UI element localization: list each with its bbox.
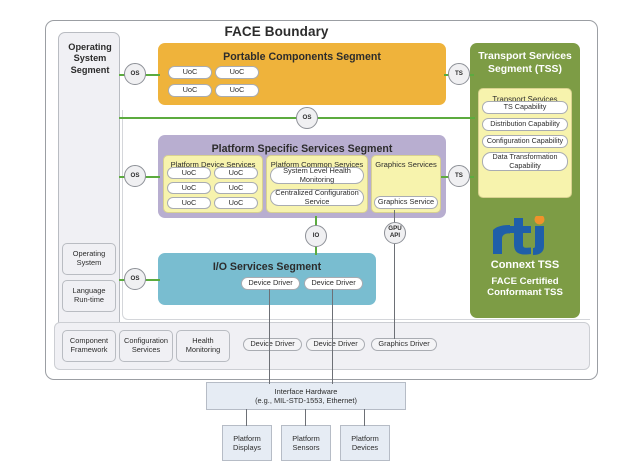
- operating-system-box-line-2: System: [73, 259, 105, 268]
- connector-os-4-right: [144, 279, 160, 281]
- interface-io[interactable]: IO: [305, 225, 327, 247]
- interface-hardware-line-2: (e.g., MIL-STD-1553, Ethernet): [255, 396, 357, 405]
- graphics-service-pill[interactable]: Graphics Service: [374, 196, 438, 209]
- face-certified-line-1: FACE Certified: [470, 276, 580, 287]
- language-runtime-line-2: Run-time: [73, 296, 106, 305]
- rti-logo-svg: [487, 216, 563, 256]
- os-label-line-3: Segment: [59, 65, 121, 76]
- uoc-pill[interactable]: UoC: [167, 182, 211, 194]
- connector-os-bus-right: [317, 117, 475, 119]
- platform-sensors-box[interactable]: Platform Sensors: [281, 425, 331, 461]
- language-runtime-box[interactable]: Language Run-time: [62, 280, 116, 312]
- platform-devices-line-1: Platform: [351, 434, 379, 443]
- io-services-segment-title: I/O Services Segment: [158, 261, 376, 273]
- connector-io-down: [315, 246, 317, 255]
- data-transformation-capability-pill[interactable]: Data Transformation Capability: [482, 152, 568, 171]
- health-monitoring-line-2: Monitoring: [186, 346, 221, 355]
- uoc-pill[interactable]: UoC: [215, 84, 259, 97]
- interface-hardware-line-1: Interface Hardware: [255, 387, 357, 396]
- interface-os-2[interactable]: OS: [296, 107, 318, 129]
- uoc-pill[interactable]: UoC: [214, 182, 258, 194]
- io-device-driver-2[interactable]: Device Driver: [304, 277, 363, 290]
- interface-gpu-api[interactable]: GPU API: [384, 222, 406, 244]
- slhm-line-2: Monitoring: [283, 176, 351, 184]
- portable-components-segment-title: Portable Components Segment: [158, 51, 446, 63]
- interface-os-3[interactable]: OS: [124, 165, 146, 187]
- band-device-driver-2[interactable]: Device Driver: [306, 338, 365, 351]
- configuration-services-box[interactable]: Configuration Services: [119, 330, 173, 362]
- uoc-pill[interactable]: UoC: [167, 197, 211, 209]
- connector-dd-1: [269, 289, 270, 384]
- uoc-pill[interactable]: UoC: [214, 197, 258, 209]
- interface-ts-2[interactable]: TS: [448, 165, 470, 187]
- os-label-line-1: Operating: [59, 42, 121, 53]
- platform-sensors-line-2: Sensors: [292, 443, 320, 452]
- connector-gpu-down: [394, 244, 395, 339]
- band-graphics-driver[interactable]: Graphics Driver: [371, 338, 437, 351]
- tss-title-line-2: Segment (TSS): [470, 64, 580, 77]
- uoc-pill[interactable]: UoC: [168, 66, 212, 79]
- interface-ts-1[interactable]: TS: [448, 63, 470, 85]
- interface-os-1[interactable]: OS: [124, 63, 146, 85]
- face-certified-label: FACE Certified Conformant TSS: [470, 276, 580, 299]
- tss-title-line-1: Transport Services: [470, 51, 580, 64]
- configuration-capability-label: Configuration Capability: [487, 137, 563, 145]
- uoc-pill[interactable]: UoC: [215, 66, 259, 79]
- operating-system-segment[interactable]: Operating System Segment: [58, 32, 120, 364]
- uoc-pill[interactable]: UoC: [214, 167, 258, 179]
- connector-hw-devices: [364, 409, 365, 426]
- ts-capability-label: TS Capability: [504, 103, 547, 111]
- configuration-capability-pill[interactable]: Configuration Capability: [482, 135, 568, 148]
- platform-displays-line-1: Platform: [233, 434, 261, 443]
- os-label-line-2: System: [59, 53, 121, 64]
- band-device-driver-1[interactable]: Device Driver: [243, 338, 302, 351]
- connector-os-1-right: [144, 74, 160, 76]
- connector-hw-sensors: [305, 409, 306, 426]
- centralized-configuration-service-pill[interactable]: Centralized Configuration Service: [270, 189, 364, 206]
- operating-system-box[interactable]: Operating System: [62, 243, 116, 275]
- connector-hw-displays: [246, 409, 247, 426]
- configuration-services-line-2: Services: [124, 346, 168, 355]
- dtc-line-2: Capability: [492, 162, 557, 170]
- platform-sensors-line-1: Platform: [292, 434, 320, 443]
- interface-hardware-box[interactable]: Interface Hardware (e.g., MIL-STD-1553, …: [206, 382, 406, 410]
- ccs-line-2: Service: [275, 198, 358, 206]
- connector-os-3-right: [144, 176, 160, 178]
- transport-services-segment-title: Transport Services Segment (TSS): [470, 51, 580, 76]
- interface-os-4[interactable]: OS: [124, 268, 146, 290]
- gpu-api-line-2: API: [388, 233, 401, 240]
- platform-devices-line-2: Devices: [351, 443, 379, 452]
- rti-logo: [487, 216, 563, 256]
- platform-devices-box[interactable]: Platform Devices: [340, 425, 390, 461]
- operating-system-segment-label: Operating System Segment: [59, 42, 121, 76]
- connector-os-bus-left: [119, 117, 297, 119]
- uoc-pill[interactable]: UoC: [168, 84, 212, 97]
- system-level-health-monitoring-pill[interactable]: System Level Health Monitoring: [270, 167, 364, 184]
- connector-dd-2: [332, 289, 333, 384]
- ts-capability-pill[interactable]: TS Capability: [482, 101, 568, 114]
- connext-tss-name: Connext TSS: [470, 259, 580, 271]
- health-monitoring-box[interactable]: Health Monitoring: [176, 330, 230, 362]
- diagram-canvas: FACE Boundary Operating System Segment O…: [0, 0, 642, 473]
- uoc-pill[interactable]: UoC: [167, 167, 211, 179]
- platform-displays-line-2: Displays: [233, 443, 261, 452]
- platform-displays-box[interactable]: Platform Displays: [222, 425, 272, 461]
- platform-specific-services-segment-title: Platform Specific Services Segment: [158, 143, 446, 155]
- face-certified-line-2: Conformant TSS: [470, 287, 580, 298]
- component-framework-line-2: Framework: [70, 346, 108, 355]
- distribution-capability-pill[interactable]: Distribution Capability: [482, 118, 568, 131]
- graphics-services-label: Graphics Services: [372, 160, 440, 169]
- component-framework-box[interactable]: Component Framework: [62, 330, 116, 362]
- io-device-driver-1[interactable]: Device Driver: [241, 277, 300, 290]
- distribution-capability-label: Distribution Capability: [490, 120, 560, 128]
